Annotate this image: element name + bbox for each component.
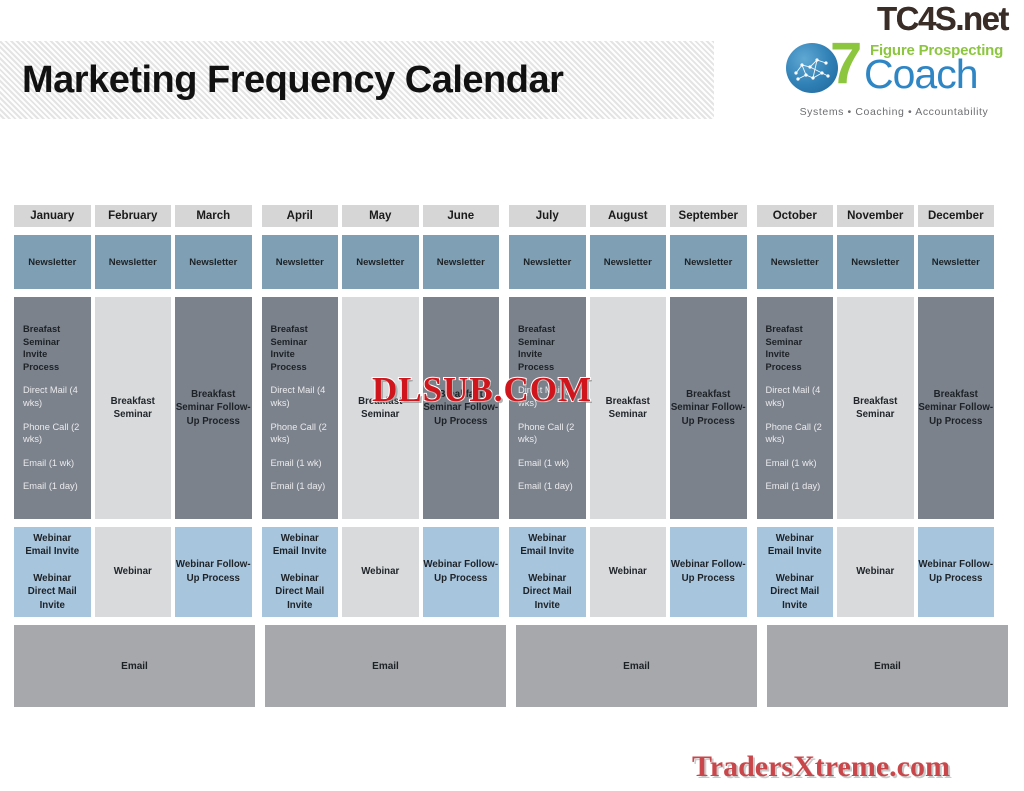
- month-header-january: January: [14, 205, 91, 227]
- month-header-june: June: [423, 205, 500, 227]
- quarter-gap: [499, 297, 509, 519]
- logo-tagline: Systems • Coaching • Accountability: [778, 106, 1010, 118]
- email-row: Email Email Email Email: [14, 625, 1010, 707]
- quarter-gap: [252, 297, 262, 519]
- webinar-followup-q4: Webinar Follow-Up Process: [918, 527, 995, 617]
- webinar-invite-q2: Webinar Email Invite Webinar Direct Mail…: [262, 527, 339, 617]
- logo-lockup: 7 Figure Prospecting Coach: [778, 37, 1010, 99]
- month-header-december: December: [918, 205, 995, 227]
- webinar-followup-q1: Webinar Follow-Up Process: [175, 527, 252, 617]
- seminar-step-email-1wk: Email (1 wk): [23, 457, 82, 470]
- quarter-4-seminar: Breafast Seminar Invite Process Direct M…: [757, 297, 995, 519]
- month-header-march: March: [175, 205, 252, 227]
- webinar-email-invite: Webinar Email Invite: [515, 532, 580, 559]
- month-header-october: October: [757, 205, 834, 227]
- quarter-3-seminar: Breafast Seminar Invite Process Direct M…: [509, 297, 747, 519]
- seminar-followup-q4: Breakfast Seminar Follow-Up Process: [918, 297, 995, 519]
- quarter-3-months: July August September: [509, 205, 747, 227]
- logo-seven: 7: [830, 35, 862, 93]
- quarter-gap: [747, 297, 757, 519]
- quarter-gap: [747, 235, 757, 289]
- newsletter-cell-february: Newsletter: [95, 235, 172, 289]
- quarter-1-newsletters: Newsletter Newsletter Newsletter: [14, 235, 252, 289]
- logo-domain-text: TC4S.net: [778, 2, 1008, 35]
- newsletter-cell-october: Newsletter: [757, 235, 834, 289]
- seminar-invite-title: Breafast Seminar Invite Process: [271, 323, 330, 373]
- marketing-calendar: January February March April May June Ju…: [14, 205, 1010, 707]
- webinar-direct-mail-invite: Webinar Direct Mail Invite: [268, 572, 333, 613]
- quarter-2-months: April May June: [262, 205, 500, 227]
- seminar-step-email-1day: Email (1 day): [518, 480, 577, 493]
- seminar-invite-process-q1: Breafast Seminar Invite Process Direct M…: [14, 297, 91, 519]
- seminar-step-phone-call: Phone Call (2 wks): [766, 421, 825, 446]
- seminar-step-phone-call: Phone Call (2 wks): [23, 421, 82, 446]
- quarter-1-seminar: Breafast Seminar Invite Process Direct M…: [14, 297, 252, 519]
- seminar-event-q3: Breakfast Seminar: [590, 297, 667, 519]
- quarter-2-seminar: Breafast Seminar Invite Process Direct M…: [262, 297, 500, 519]
- newsletter-cell-may: Newsletter: [342, 235, 419, 289]
- seminar-step-direct-mail: Direct Mail (4 wks): [766, 384, 825, 409]
- newsletter-cell-june: Newsletter: [423, 235, 500, 289]
- webinar-direct-mail-invite: Webinar Direct Mail Invite: [515, 572, 580, 613]
- quarter-gap: [757, 625, 767, 707]
- quarter-gap: [252, 235, 262, 289]
- webinar-direct-mail-invite: Webinar Direct Mail Invite: [20, 572, 85, 613]
- webinar-invite-q4: Webinar Email Invite Webinar Direct Mail…: [757, 527, 834, 617]
- quarter-2-newsletters: Newsletter Newsletter Newsletter: [262, 235, 500, 289]
- email-block-q3: Email: [516, 625, 757, 707]
- newsletter-cell-march: Newsletter: [175, 235, 252, 289]
- webinar-event-q4: Webinar: [837, 527, 914, 617]
- email-block-q2: Email: [265, 625, 506, 707]
- month-header-february: February: [95, 205, 172, 227]
- month-header-july: July: [509, 205, 586, 227]
- page-title: Marketing Frequency Calendar: [22, 59, 563, 102]
- quarter-3-newsletters: Newsletter Newsletter Newsletter: [509, 235, 747, 289]
- webinar-event-q1: Webinar: [95, 527, 172, 617]
- newsletter-cell-september: Newsletter: [670, 235, 747, 289]
- webinar-email-invite: Webinar Email Invite: [268, 532, 333, 559]
- seminar-invite-title: Breafast Seminar Invite Process: [23, 323, 82, 373]
- seminar-event-q4: Breakfast Seminar: [837, 297, 914, 519]
- seminar-step-email-1wk: Email (1 wk): [766, 457, 825, 470]
- seminar-invite-process-q3: Breafast Seminar Invite Process Direct M…: [509, 297, 586, 519]
- newsletter-cell-april: Newsletter: [262, 235, 339, 289]
- webinar-event-q2: Webinar: [342, 527, 419, 617]
- quarter-4-webinar: Webinar Email Invite Webinar Direct Mail…: [757, 527, 995, 617]
- seminar-step-phone-call: Phone Call (2 wks): [271, 421, 330, 446]
- quarter-1-webinar: Webinar Email Invite Webinar Direct Mail…: [14, 527, 252, 617]
- month-header-august: August: [590, 205, 667, 227]
- webinar-followup-q2: Webinar Follow-Up Process: [423, 527, 500, 617]
- breakfast-seminar-row: Breafast Seminar Invite Process Direct M…: [14, 297, 1010, 519]
- seminar-followup-q3: Breakfast Seminar Follow-Up Process: [670, 297, 747, 519]
- seminar-invite-title: Breafast Seminar Invite Process: [518, 323, 577, 373]
- month-header-april: April: [262, 205, 339, 227]
- seminar-step-email-1wk: Email (1 wk): [271, 457, 330, 470]
- month-header-may: May: [342, 205, 419, 227]
- month-header-row: January February March April May June Ju…: [14, 205, 1010, 227]
- newsletter-cell-january: Newsletter: [14, 235, 91, 289]
- email-block-q1: Email: [14, 625, 255, 707]
- webinar-invite-q1: Webinar Email Invite Webinar Direct Mail…: [14, 527, 91, 617]
- seminar-step-direct-mail: Direct Mail (4 wks): [271, 384, 330, 409]
- seminar-followup-q1: Breakfast Seminar Follow-Up Process: [175, 297, 252, 519]
- quarter-gap: [499, 205, 509, 227]
- quarter-3-webinar: Webinar Email Invite Webinar Direct Mail…: [509, 527, 747, 617]
- watermark-tradersxtreme: TradersXtreme.com: [692, 750, 950, 784]
- newsletter-cell-november: Newsletter: [837, 235, 914, 289]
- quarter-gap: [499, 235, 509, 289]
- newsletter-row: Newsletter Newsletter Newsletter Newslet…: [14, 235, 1010, 289]
- webinar-email-invite: Webinar Email Invite: [20, 532, 85, 559]
- seminar-step-phone-call: Phone Call (2 wks): [518, 421, 577, 446]
- quarter-gap: [252, 205, 262, 227]
- seminar-step-direct-mail: Direct Mail (4 wks): [518, 384, 577, 409]
- webinar-row: Webinar Email Invite Webinar Direct Mail…: [14, 527, 1010, 617]
- newsletter-cell-august: Newsletter: [590, 235, 667, 289]
- webinar-email-invite: Webinar Email Invite: [763, 532, 828, 559]
- newsletter-cell-july: Newsletter: [509, 235, 586, 289]
- quarter-1-months: January February March: [14, 205, 252, 227]
- webinar-invite-q3: Webinar Email Invite Webinar Direct Mail…: [509, 527, 586, 617]
- seminar-step-email-1day: Email (1 day): [766, 480, 825, 493]
- logo-coach: Coach: [864, 54, 978, 95]
- email-block-q4: Email: [767, 625, 1008, 707]
- quarter-gap: [255, 625, 265, 707]
- seminar-invite-process-q2: Breafast Seminar Invite Process Direct M…: [262, 297, 339, 519]
- webinar-direct-mail-invite: Webinar Direct Mail Invite: [763, 572, 828, 613]
- month-header-september: September: [670, 205, 747, 227]
- seminar-step-email-1wk: Email (1 wk): [518, 457, 577, 470]
- brand-logo: TC4S.net 7 Figure P: [778, 2, 1010, 124]
- quarter-4-newsletters: Newsletter Newsletter Newsletter: [757, 235, 995, 289]
- quarter-gap: [252, 527, 262, 617]
- seminar-event-q2: Breakfast Seminar: [342, 297, 419, 519]
- webinar-followup-q3: Webinar Follow-Up Process: [670, 527, 747, 617]
- quarter-gap: [506, 625, 516, 707]
- month-header-november: November: [837, 205, 914, 227]
- webinar-event-q3: Webinar: [590, 527, 667, 617]
- quarter-gap: [747, 205, 757, 227]
- seminar-invite-process-q4: Breafast Seminar Invite Process Direct M…: [757, 297, 834, 519]
- seminar-step-email-1day: Email (1 day): [23, 480, 82, 493]
- seminar-step-email-1day: Email (1 day): [271, 480, 330, 493]
- seminar-followup-q2: Breakfast Seminar Follow-Up Process: [423, 297, 500, 519]
- quarter-2-webinar: Webinar Email Invite Webinar Direct Mail…: [262, 527, 500, 617]
- page-header-banner: Marketing Frequency Calendar: [0, 41, 714, 119]
- seminar-invite-title: Breafast Seminar Invite Process: [766, 323, 825, 373]
- newsletter-cell-december: Newsletter: [918, 235, 995, 289]
- quarter-4-months: October November December: [757, 205, 995, 227]
- quarter-gap: [747, 527, 757, 617]
- seminar-step-direct-mail: Direct Mail (4 wks): [23, 384, 82, 409]
- quarter-gap: [499, 527, 509, 617]
- seminar-event-q1: Breakfast Seminar: [95, 297, 172, 519]
